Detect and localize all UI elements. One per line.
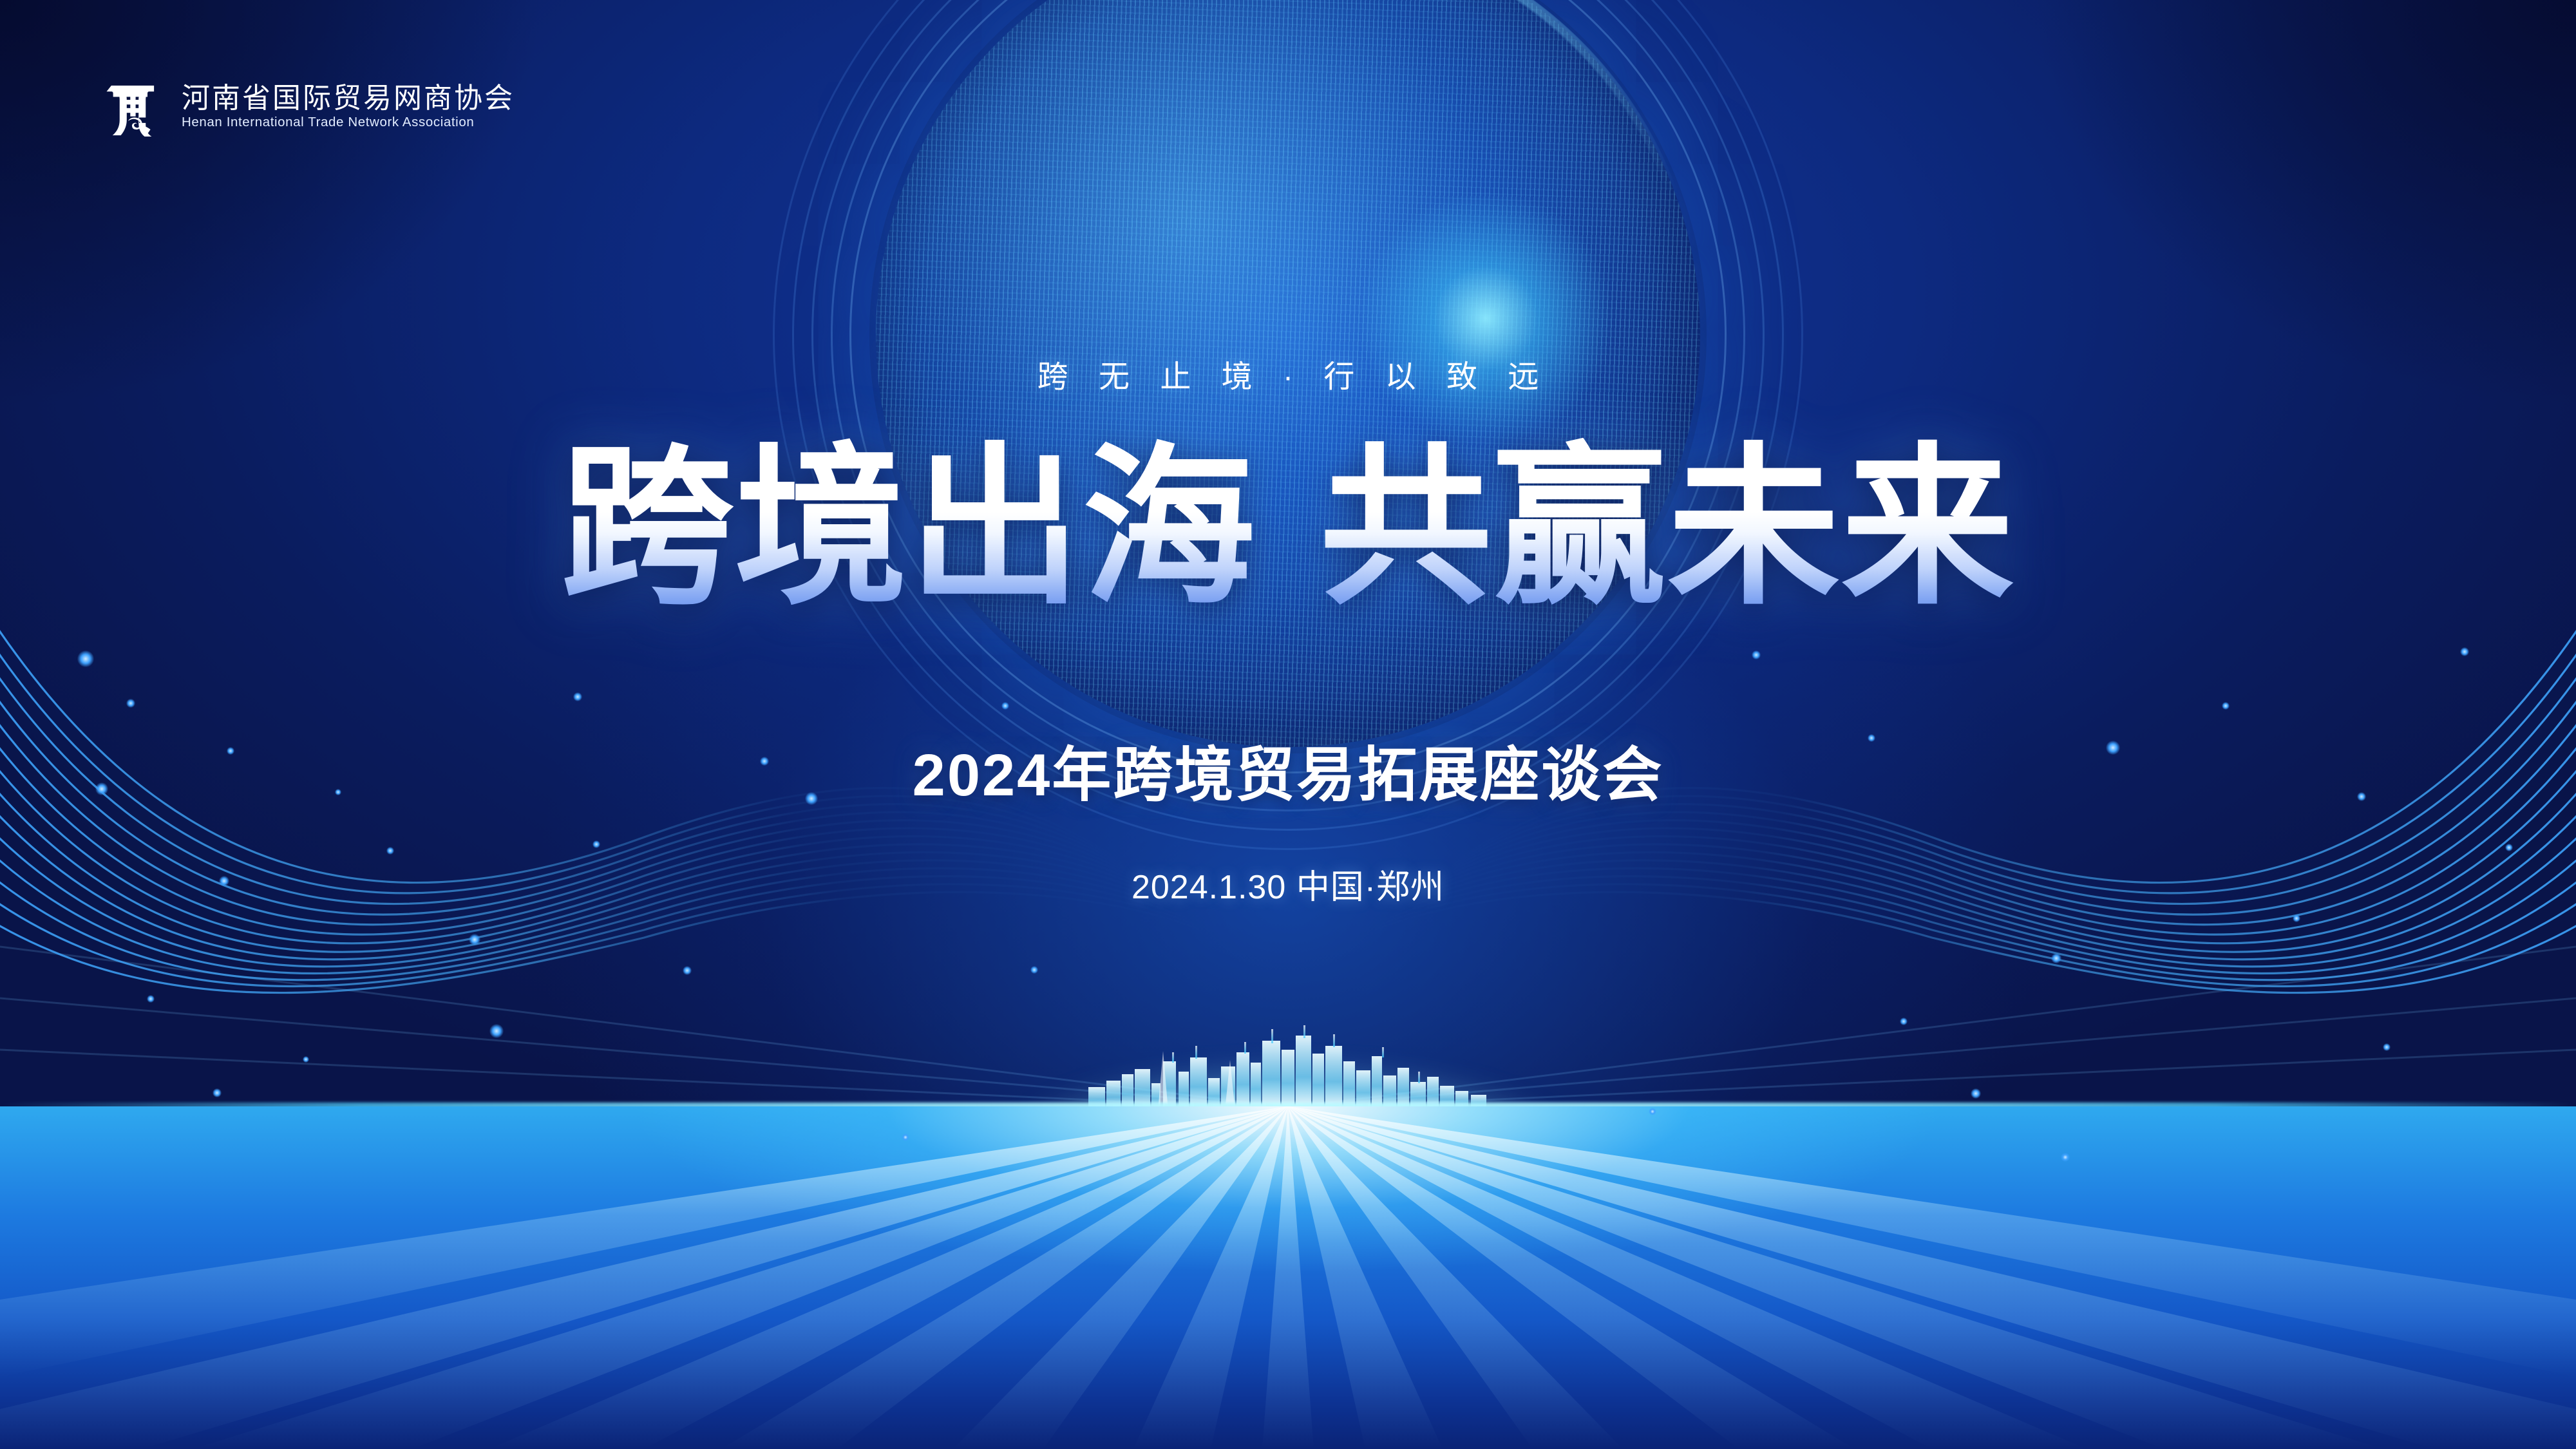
event-date-location: 2024.1.30 中国·郑州 xyxy=(0,871,2576,904)
logo-name-en: Henan International Trade Network Associ… xyxy=(182,116,515,129)
light-rays-icon xyxy=(0,1106,2576,1449)
title-part-1: 跨境出海 xyxy=(558,431,1259,624)
association-logo[interactable]: 河南省国际贸易网商协会 Henan International Trade Ne… xyxy=(103,77,515,137)
page-title: 跨境出海共赢未来 xyxy=(0,441,2576,614)
title-part-2: 共赢未来 xyxy=(1317,431,2018,624)
city-skyline-icon xyxy=(1082,1024,1494,1111)
event-subtitle: 2024年跨境贸易拓展座谈会 xyxy=(0,746,2576,805)
hero-tagline: 跨 无 止 境 · 行 以 致 远 xyxy=(0,351,2576,396)
logo-name-cn: 河南省国际贸易网商协会 xyxy=(182,84,515,113)
poster-canvas: 河南省国际贸易网商协会 Henan International Trade Ne… xyxy=(0,0,2576,1449)
henan-seal-emblem-icon xyxy=(103,77,162,137)
flowing-wave-lines-icon xyxy=(0,567,2576,1056)
